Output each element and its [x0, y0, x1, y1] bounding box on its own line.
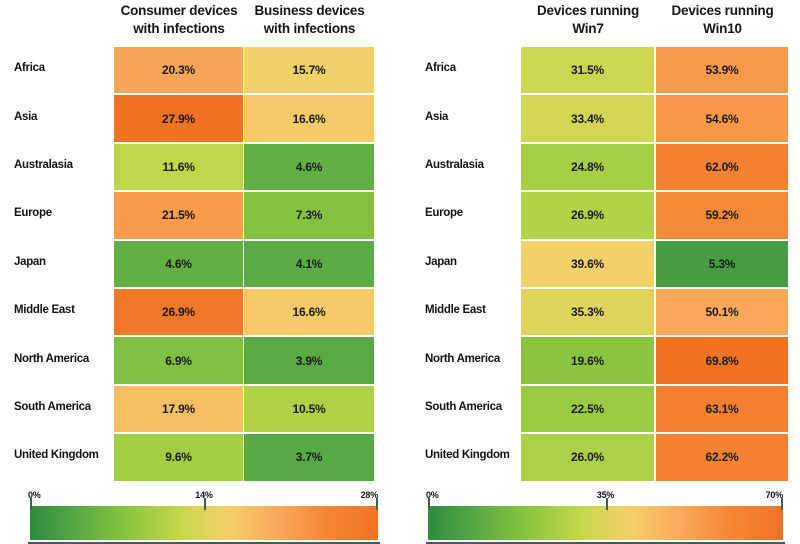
row-label-infections-4: Japan [14, 256, 46, 268]
colorbar-tick-label-os-version-mid: 35% [597, 490, 614, 500]
heatmap-cell: 16.6% [244, 289, 374, 335]
colorbar-tick-label-infections-start: 0% [28, 490, 41, 500]
heatmap-cell: 15.7% [244, 47, 374, 93]
column-header-line1: Devices running [657, 2, 788, 20]
row-label-infections-5: Middle East [14, 304, 75, 316]
heatmap-cell: 27.9% [114, 95, 243, 141]
heatmap-cell: 26.9% [521, 192, 654, 238]
colorbar-tick-label-os-version-start: 0% [426, 490, 439, 500]
row-label-os-version-6: North America [425, 353, 500, 365]
row-label-os-version-4: Japan [425, 256, 457, 268]
heatmap-cell: 4.1% [244, 241, 374, 287]
heatmap-cell: 9.6% [114, 434, 243, 480]
heatmap-cell: 19.6% [521, 337, 654, 383]
heatmap-cell: 63.1% [656, 386, 788, 432]
heatmap-cell: 33.4% [521, 95, 654, 141]
heatmap-cell: 3.7% [244, 434, 374, 480]
column-header-infections-1: Business deviceswith infections [245, 2, 374, 38]
row-label-os-version-7: South America [425, 401, 502, 413]
heatmap-cell: 5.3% [656, 241, 788, 287]
row-label-os-version-1: Asia [425, 111, 448, 123]
colorbar-gradient-infections [30, 506, 378, 540]
column-header-line1: Consumer devices [115, 2, 243, 20]
heatmap-cell: 59.2% [656, 192, 788, 238]
heatmap-cell: 31.5% [521, 47, 654, 93]
column-header-line2: Win10 [657, 20, 788, 38]
heatmap-cell: 21.5% [114, 192, 243, 238]
heatmap-cell: 62.0% [656, 144, 788, 190]
heatmap-cell: 39.6% [521, 241, 654, 287]
column-header-line2: with infections [115, 20, 243, 38]
row-label-os-version-5: Middle East [425, 304, 486, 316]
row-label-infections-0: Africa [14, 62, 45, 74]
column-header-line1: Devices running [522, 2, 654, 20]
colorbar-gradient-os-version [428, 506, 783, 540]
heatmap-cell: 17.9% [114, 386, 243, 432]
column-header-os-version-0: Devices runningWin7 [522, 2, 654, 38]
row-label-os-version-3: Europe [425, 207, 463, 219]
row-label-infections-8: United Kingdom [14, 449, 99, 461]
heatmap-cell: 53.9% [656, 47, 788, 93]
heatmap-cell: 4.6% [114, 241, 243, 287]
row-label-infections-2: Australasia [14, 159, 73, 171]
heatmap-cell: 24.8% [521, 144, 654, 190]
heatmap-cell: 22.5% [521, 386, 654, 432]
column-header-line1: Business devices [245, 2, 374, 20]
row-label-os-version-8: United Kingdom [425, 449, 510, 461]
heatmap-cell: 69.8% [656, 337, 788, 383]
colorbar-tick-label-infections-end: 28% [361, 490, 378, 500]
heatmap-cell: 4.6% [244, 144, 374, 190]
heatmap-cell: 16.6% [244, 95, 374, 141]
heatmap-cell: 6.9% [114, 337, 243, 383]
row-label-infections-7: South America [14, 401, 91, 413]
heatmap-cell: 35.3% [521, 289, 654, 335]
heatmap-cell: 3.9% [244, 337, 374, 383]
column-header-line2: with infections [245, 20, 374, 38]
row-label-os-version-0: Africa [425, 62, 456, 74]
colorbar-tick-label-infections-mid: 14% [195, 490, 212, 500]
heatmap-cell: 7.3% [244, 192, 374, 238]
heatmap-cell: 50.1% [656, 289, 788, 335]
column-header-os-version-1: Devices runningWin10 [657, 2, 788, 38]
row-label-infections-3: Europe [14, 207, 52, 219]
heatmap-cell: 54.6% [656, 95, 788, 141]
column-header-infections-0: Consumer deviceswith infections [115, 2, 243, 38]
row-label-infections-6: North America [14, 353, 89, 365]
column-header-line2: Win7 [522, 20, 654, 38]
row-label-infections-1: Asia [14, 111, 37, 123]
heatmap-cell: 11.6% [114, 144, 243, 190]
heatmap-cell: 62.2% [656, 434, 788, 480]
heatmap-cell: 10.5% [244, 386, 374, 432]
heatmap-cell: 20.3% [114, 47, 243, 93]
row-label-os-version-2: Australasia [425, 159, 484, 171]
heatmap-cell: 26.0% [521, 434, 654, 480]
colorbar-tick-label-os-version-end: 70% [766, 490, 783, 500]
heatmap-cell: 26.9% [114, 289, 243, 335]
